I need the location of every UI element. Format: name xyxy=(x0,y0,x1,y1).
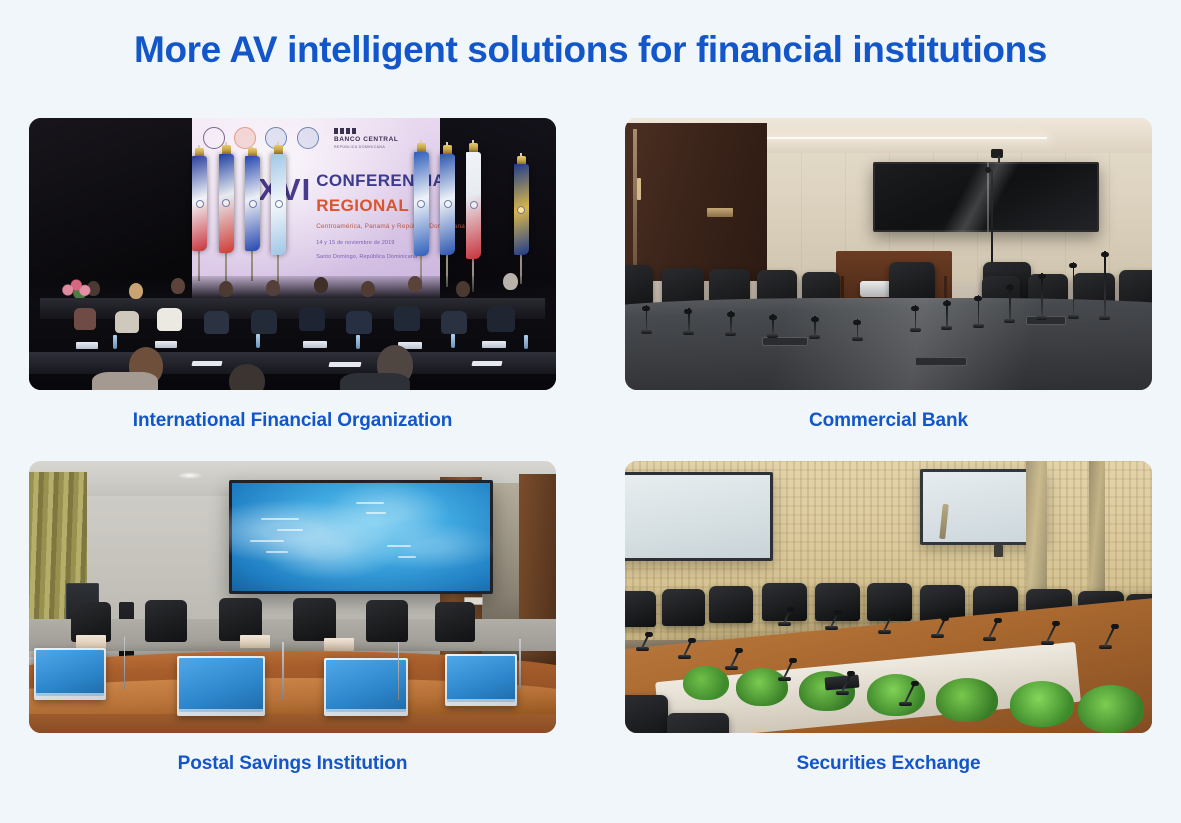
foreground-attendee-body xyxy=(92,372,158,390)
conference-hall-scene: BANCO CENTRAL REPÚBLICA DOMINICANA XVI C… xyxy=(29,118,556,390)
wordcloud-text-line xyxy=(277,529,303,531)
door-handle-icon xyxy=(637,178,641,200)
leather-chair xyxy=(667,713,729,732)
photo-international-financial-organization[interactable]: BANCO CENTRAL REPÚBLICA DOMINICANA XVI C… xyxy=(29,118,556,390)
leather-chair xyxy=(625,695,668,733)
caption-international-financial-organization: International Financial Organization xyxy=(29,410,556,433)
leather-chair xyxy=(762,583,807,621)
water-bottle xyxy=(256,334,260,348)
potted-plant xyxy=(1078,685,1144,733)
world-map-wordcloud xyxy=(229,480,493,594)
delegate-body xyxy=(299,307,325,331)
slide-root: More AV intelligent solutions for financ… xyxy=(0,0,1181,823)
delegate-head xyxy=(408,276,422,292)
leather-chair xyxy=(625,591,656,627)
delegate-body xyxy=(115,311,139,333)
sponsor-logo-row: BANCO CENTRAL REPÚBLICA DOMINICANA xyxy=(203,128,435,150)
document-sheet xyxy=(192,361,223,366)
delegate-body xyxy=(394,306,420,331)
photo-postal-savings-institution[interactable] xyxy=(29,461,556,733)
wordcloud-text-line xyxy=(398,556,416,558)
gallery-grid: BANCO CENTRAL REPÚBLICA DOMINICANA XVI C… xyxy=(29,118,1152,776)
delegate-head xyxy=(456,281,470,297)
conference-chair xyxy=(366,600,408,642)
monitor-taskbar xyxy=(447,699,515,702)
gallery-item-commercial-bank[interactable]: Commercial Bank xyxy=(625,118,1152,433)
monitor-screen xyxy=(447,656,515,702)
photo-securities-exchange[interactable] xyxy=(625,461,1152,733)
wordcloud-text-line xyxy=(356,502,384,504)
national-flag xyxy=(466,140,481,292)
foreground-attendee-body xyxy=(340,373,410,390)
water-bottle xyxy=(356,335,360,349)
monitor-screen xyxy=(179,658,263,712)
banner-date: 14 y 15 de noviembre de 2019 xyxy=(316,240,394,246)
delegate-body xyxy=(346,311,372,334)
potted-plant xyxy=(1010,681,1074,727)
monitor-screen xyxy=(36,650,104,696)
retractable-monitor xyxy=(324,658,408,716)
mic-capsule-icon xyxy=(985,167,991,173)
page-title: More AV intelligent solutions for financ… xyxy=(0,27,1181,73)
document-sheet xyxy=(471,361,502,366)
table-cable-grommet xyxy=(762,337,808,346)
caption-commercial-bank: Commercial Bank xyxy=(625,410,1152,433)
national-flag xyxy=(271,142,286,286)
delegate-head xyxy=(129,283,143,299)
microphone-stalk xyxy=(519,639,521,689)
delegate-head xyxy=(503,273,518,290)
potted-plant xyxy=(683,666,729,700)
sponsor-logo-icon xyxy=(297,127,319,149)
delegate-nameplate xyxy=(324,638,354,651)
wordcloud-text-line xyxy=(266,551,288,553)
gallery-item-international-financial-organization[interactable]: BANCO CENTRAL REPÚBLICA DOMINICANA XVI C… xyxy=(29,118,556,433)
monitor-taskbar xyxy=(36,693,104,696)
securities-exchange-scene xyxy=(625,461,1152,733)
delegate-nameplate xyxy=(155,341,177,348)
delegate-nameplate xyxy=(482,341,506,348)
caption-postal-savings-institution: Postal Savings Institution xyxy=(29,753,556,776)
banco-central-logo: BANCO CENTRAL REPÚBLICA DOMINICANA xyxy=(334,128,399,149)
dark-wood-wall xyxy=(625,123,767,281)
conference-chair xyxy=(145,600,187,642)
delegate-body xyxy=(157,308,182,331)
water-bottle xyxy=(451,334,455,348)
delegate-body xyxy=(74,308,96,330)
wordcloud-text-line xyxy=(387,545,411,547)
national-flag xyxy=(414,140,429,290)
whiteboard xyxy=(625,472,773,562)
conference-chair xyxy=(435,602,475,642)
national-flag xyxy=(245,145,260,281)
ceiling-light xyxy=(177,472,203,479)
boardroom-scene xyxy=(625,118,1152,390)
delegate-head xyxy=(361,281,375,297)
wall-switch xyxy=(994,545,1003,557)
camera-mount xyxy=(998,156,1000,163)
gallery-item-postal-savings-institution[interactable]: Postal Savings Institution xyxy=(29,461,556,776)
potted-plant xyxy=(936,678,998,722)
national-flag xyxy=(192,145,207,281)
delegate-body xyxy=(251,310,277,334)
monitor-screen xyxy=(326,660,406,712)
delegate-body xyxy=(204,311,229,334)
delegate-head xyxy=(266,280,280,296)
table-cable-grommet xyxy=(915,357,967,366)
ceiling-light-strip xyxy=(741,137,1047,139)
leather-chair xyxy=(662,589,705,626)
conference-chair xyxy=(293,598,336,641)
microphone-stalk xyxy=(124,637,126,689)
retractable-monitor xyxy=(445,654,517,706)
potted-plant xyxy=(736,668,788,706)
banner-place: Santo Domingo, República Dominicana xyxy=(316,254,417,260)
delegate-nameplate xyxy=(76,342,98,349)
delegate-nameplate xyxy=(76,635,106,648)
banner-line-2: REGIONAL xyxy=(316,196,409,216)
wall-plaque xyxy=(707,208,733,217)
delegate-nameplate xyxy=(303,341,327,348)
water-bottle xyxy=(113,335,117,349)
national-flag xyxy=(219,142,234,283)
national-flag xyxy=(440,142,455,286)
gallery-item-securities-exchange[interactable]: Securities Exchange xyxy=(625,461,1152,776)
banco-central-bars-icon xyxy=(334,128,399,134)
delegate-body xyxy=(487,306,515,332)
document-sheet xyxy=(329,362,362,367)
photo-commercial-bank[interactable] xyxy=(625,118,1152,390)
banco-central-subtitle: REPÚBLICA DOMINICANA xyxy=(334,145,399,149)
delegate-nameplate xyxy=(240,635,270,648)
flower-arrangement xyxy=(61,278,95,298)
retractable-monitor xyxy=(177,656,265,716)
delegate-head xyxy=(219,281,233,297)
water-bottle xyxy=(524,335,528,349)
national-flag xyxy=(514,153,529,284)
delegate-body xyxy=(441,311,467,334)
retractable-monitor xyxy=(34,648,106,700)
delegate-head xyxy=(314,277,328,293)
leather-chair xyxy=(709,586,753,623)
caption-securities-exchange: Securities Exchange xyxy=(625,753,1152,776)
microphone-stalk xyxy=(282,642,284,700)
wordcloud-text-line xyxy=(250,540,284,542)
wordcloud-text-line xyxy=(261,518,299,520)
monitor-taskbar xyxy=(179,709,263,712)
monitor-taskbar xyxy=(326,709,406,712)
postal-savings-room-scene xyxy=(29,461,556,733)
banco-central-name: BANCO CENTRAL xyxy=(334,136,399,143)
microphone-stalk xyxy=(398,642,400,700)
